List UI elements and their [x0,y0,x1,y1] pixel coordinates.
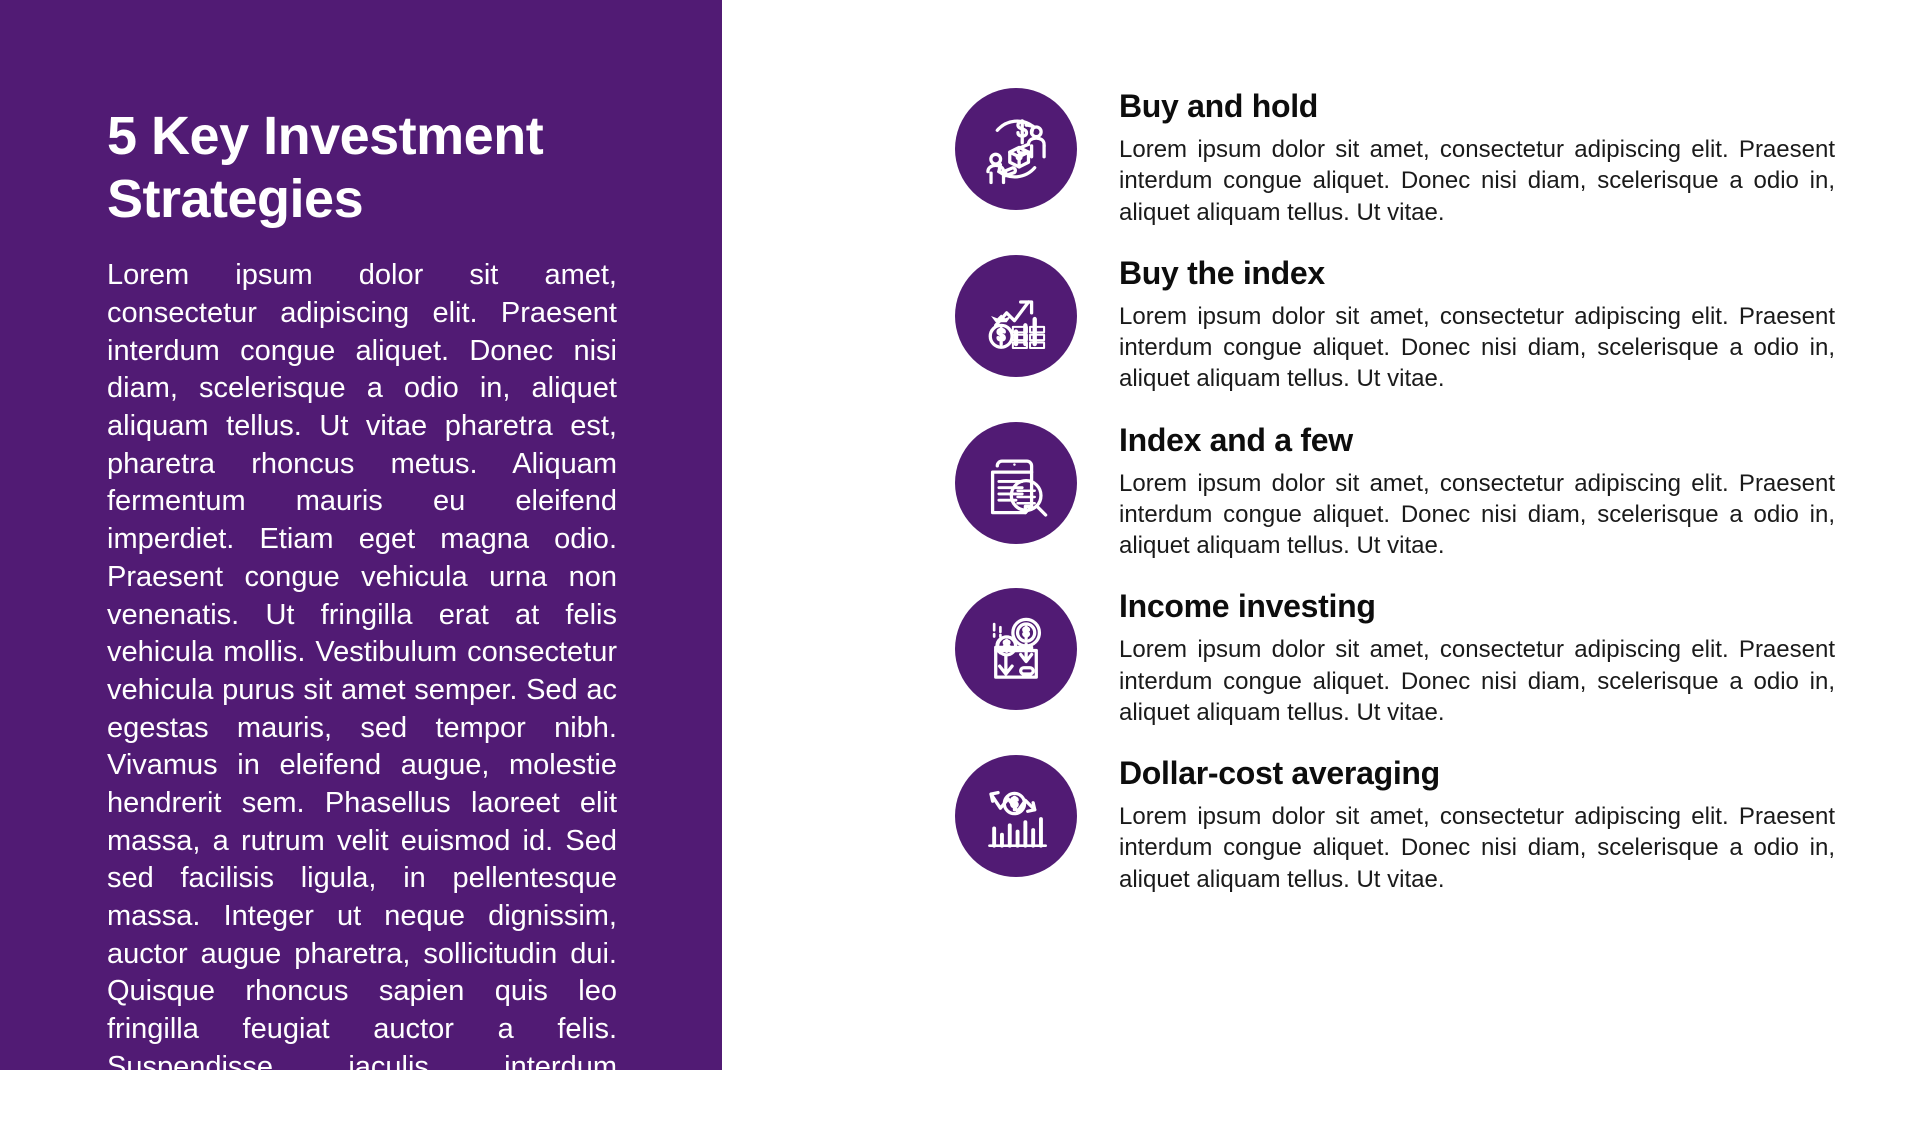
strategy-item-index-and-a-few[interactable]: Index and a few Lorem ipsum dolor sit am… [955,420,1835,562]
strategy-text-block: Dollar-cost averaging Lorem ipsum dolor … [1077,753,1835,895]
strategy-description: Lorem ipsum dolor sit amet, consectetur … [1119,468,1835,562]
strategy-description: Lorem ipsum dolor sit amet, consectetur … [1119,134,1835,228]
strategy-list: Buy and hold Lorem ipsum dolor sit amet,… [955,86,1835,895]
strategy-item-buy-the-index[interactable]: Buy the index Lorem ipsum dolor sit amet… [955,253,1835,395]
people-money-exchange-icon [955,88,1077,210]
strategy-text-block: Index and a few Lorem ipsum dolor sit am… [1077,420,1835,562]
strategy-heading: Index and a few [1119,423,1835,458]
page-title: 5 Key Investment Strategies [107,105,617,231]
volatile-chart-coin-icon [955,755,1077,877]
strategy-heading: Dollar-cost averaging [1119,756,1835,791]
strategy-text-block: Buy and hold Lorem ipsum dolor sit amet,… [1077,86,1835,228]
coins-into-wallet-icon [955,588,1077,710]
left-panel-content: 5 Key Investment Strategies Lorem ipsum … [107,105,617,1124]
strategy-description: Lorem ipsum dolor sit amet, consectetur … [1119,801,1835,895]
strategy-heading: Buy the index [1119,256,1835,291]
strategy-heading: Buy and hold [1119,89,1835,124]
strategy-text-block: Income investing Lorem ipsum dolor sit a… [1077,586,1835,728]
strategy-description: Lorem ipsum dolor sit amet, consectetur … [1119,634,1835,728]
strategy-item-dollar-cost-averaging[interactable]: Dollar-cost averaging Lorem ipsum dolor … [955,753,1835,895]
document-magnifier-icon [955,422,1077,544]
growth-chart-money-bag-icon [955,255,1077,377]
strategy-description: Lorem ipsum dolor sit amet, consectetur … [1119,301,1835,395]
left-purple-panel: 5 Key Investment Strategies Lorem ipsum … [0,0,722,1070]
intro-paragraph: Lorem ipsum dolor sit amet, consectetur … [107,257,617,1124]
strategy-heading: Income investing [1119,589,1835,624]
strategy-text-block: Buy the index Lorem ipsum dolor sit amet… [1077,253,1835,395]
strategy-item-income-investing[interactable]: Income investing Lorem ipsum dolor sit a… [955,586,1835,728]
strategy-item-buy-and-hold[interactable]: Buy and hold Lorem ipsum dolor sit amet,… [955,86,1835,228]
